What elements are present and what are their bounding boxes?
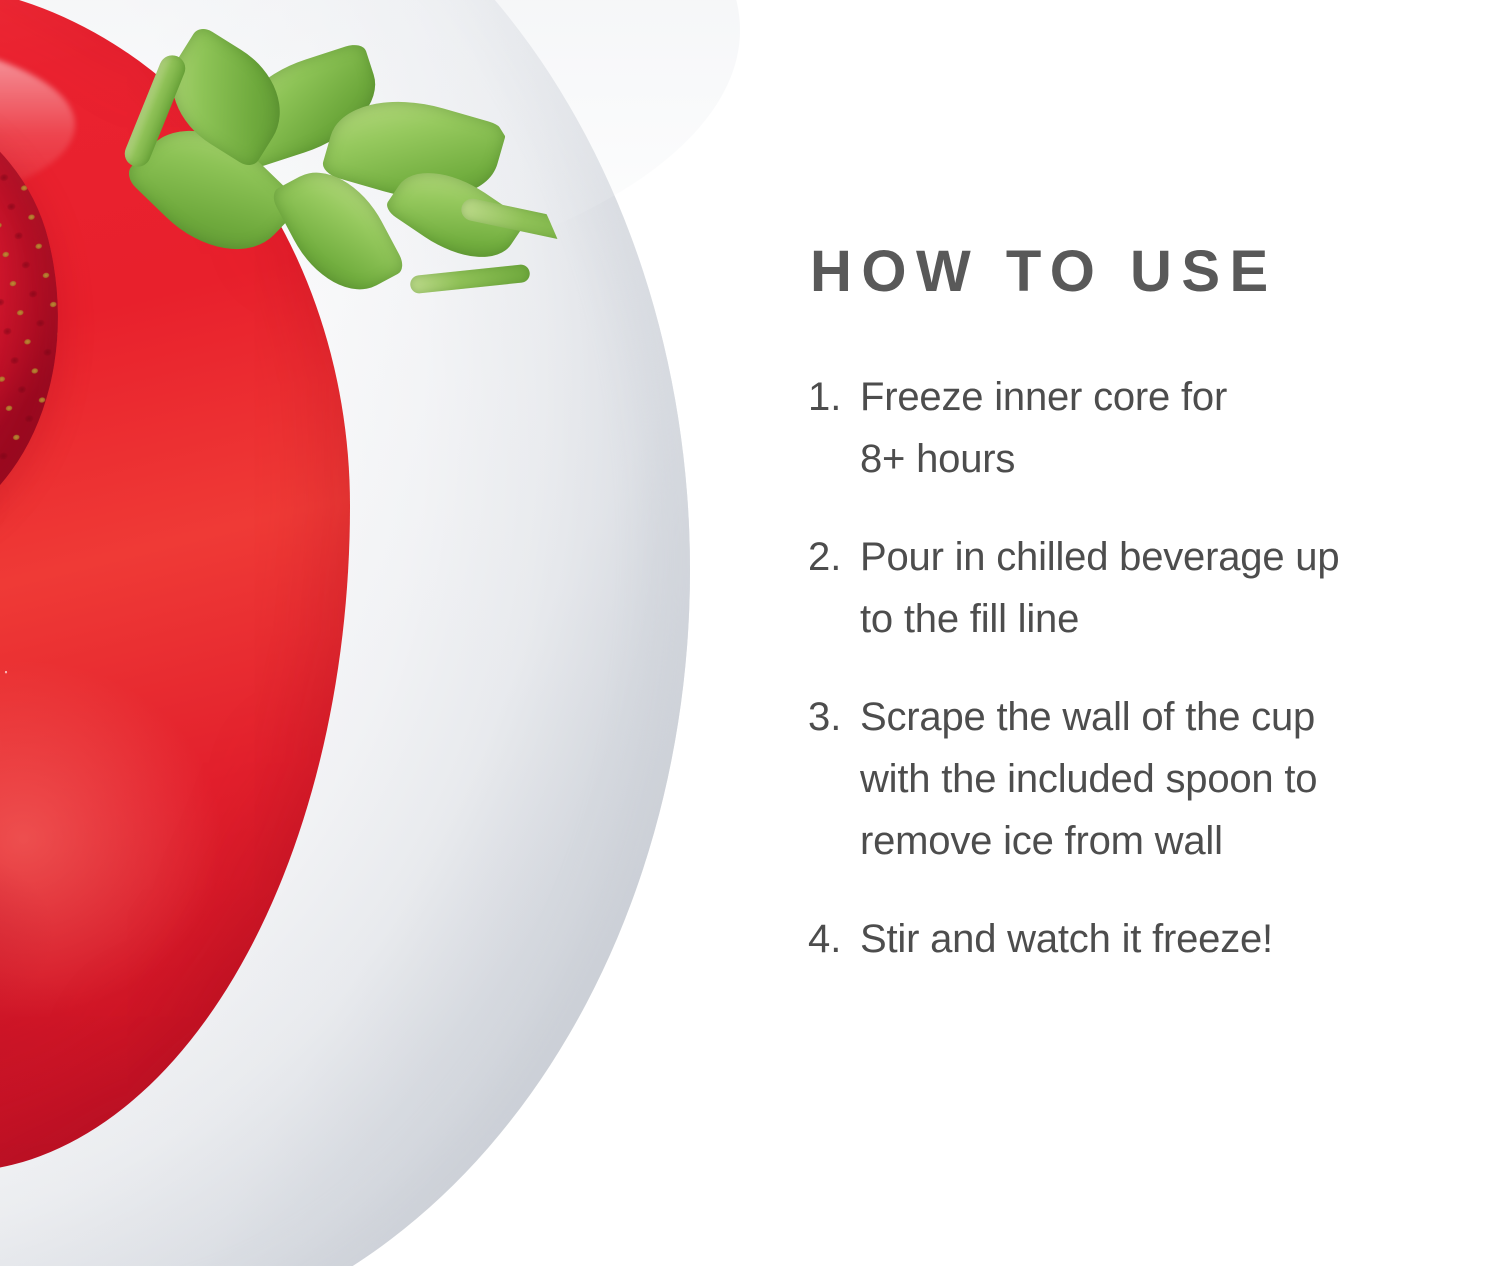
list-item: 3. Scrape the wall of the cup with the i… <box>808 686 1498 872</box>
step-number: 3. <box>808 686 860 748</box>
step-line: Scrape the wall of the cup <box>860 686 1498 748</box>
step-text: Pour in chilled beverage up to the fill … <box>860 526 1498 650</box>
infographic-canvas: HOW TO USE 1. Freeze inner core for 8+ h… <box>0 0 1500 1266</box>
product-photo <box>0 0 760 1266</box>
step-line: to the fill line <box>860 588 1498 650</box>
page-title: HOW TO USE <box>810 243 1278 301</box>
step-text: Freeze inner core for 8+ hours <box>860 366 1498 490</box>
step-number: 2. <box>808 526 860 588</box>
step-line: 8+ hours <box>860 428 1498 490</box>
strawberry-stem <box>409 264 530 294</box>
step-line: Pour in chilled beverage up <box>860 526 1498 588</box>
step-number: 1. <box>808 366 860 428</box>
list-item: 2. Pour in chilled beverage up to the fi… <box>808 526 1498 650</box>
step-text: Scrape the wall of the cup with the incl… <box>860 686 1498 872</box>
list-item: 4. Stir and watch it freeze! <box>808 908 1498 970</box>
list-item: 1. Freeze inner core for 8+ hours <box>808 366 1498 490</box>
step-line: Stir and watch it freeze! <box>860 908 1498 970</box>
step-number: 4. <box>808 908 860 970</box>
instructions-panel: HOW TO USE 1. Freeze inner core for 8+ h… <box>760 0 1500 1266</box>
step-line: with the included spoon to <box>860 748 1498 810</box>
step-line: Freeze inner core for <box>860 366 1498 428</box>
step-text: Stir and watch it freeze! <box>860 908 1498 970</box>
step-line: remove ice from wall <box>860 810 1498 872</box>
how-to-use-step-list: 1. Freeze inner core for 8+ hours 2. Pou… <box>808 366 1498 1006</box>
